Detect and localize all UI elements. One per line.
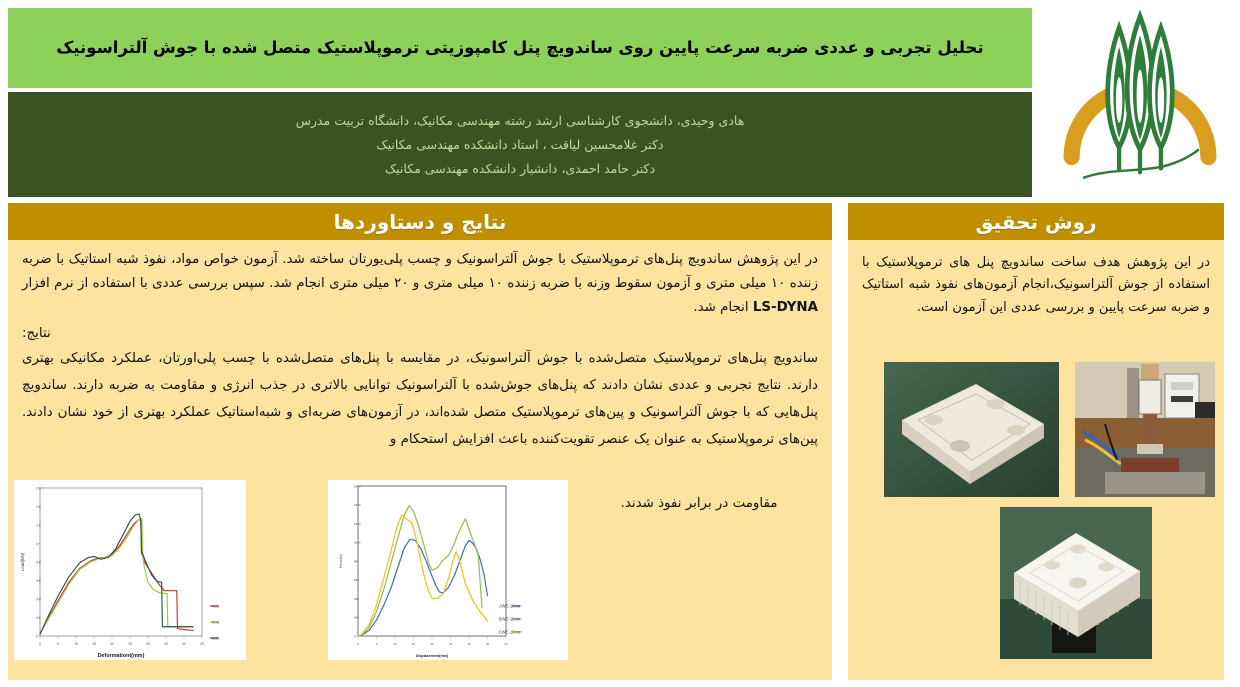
photo-sandwich-panel-angled[interactable] bbox=[884, 362, 1059, 497]
charts-area: مقاومت در برابر نفوذ شدند. 0510152025303… bbox=[8, 478, 832, 664]
results-label: نتایج: bbox=[22, 326, 818, 341]
svg-text:0.2: 0.2 bbox=[36, 616, 41, 620]
svg-text:1: 1 bbox=[36, 542, 38, 546]
svg-text:400: 400 bbox=[354, 597, 359, 601]
author-band: هادی وحیدی، دانشجوی کارشناسی ارشد رشته م… bbox=[8, 92, 1032, 197]
results-intro-paragraph: در این پژوهش ساندویچ پنل‌های ترموپلاستیک… bbox=[22, 248, 818, 320]
svg-text:40: 40 bbox=[182, 642, 186, 646]
author-line-3: دکتر حامد احمدی، دانشیار دانشکده مهندسی … bbox=[385, 161, 655, 176]
svg-text:1.4: 1.4 bbox=[36, 505, 41, 509]
svg-text:15: 15 bbox=[92, 642, 96, 646]
method-body-paragraph: در این پژوهش هدف ساخت ساندویچ پنل های تر… bbox=[862, 252, 1210, 319]
section-header-results-label: نتایج و دستاوردها bbox=[334, 210, 507, 234]
svg-text:800: 800 bbox=[354, 559, 359, 563]
svg-text:35: 35 bbox=[486, 642, 490, 646]
svg-text:45: 45 bbox=[200, 642, 204, 646]
svg-text:1600: 1600 bbox=[354, 484, 361, 488]
svg-text:1.2: 1.2 bbox=[36, 523, 41, 527]
svg-text:10: 10 bbox=[74, 642, 78, 646]
author-line-2: دکتر غلامحسین لیاقت ، استاد دانشکده مهند… bbox=[376, 137, 663, 152]
svg-text:30: 30 bbox=[467, 642, 471, 646]
svg-text:0.6: 0.6 bbox=[36, 579, 41, 583]
svg-text:1400: 1400 bbox=[354, 503, 361, 507]
svg-text:30: 30 bbox=[146, 642, 150, 646]
poster-title-band: تحلیل تجربی و عددی ضربه سرعت پایین روی س… bbox=[8, 8, 1032, 88]
svg-text:5: 5 bbox=[57, 642, 59, 646]
svg-text:0: 0 bbox=[39, 642, 41, 646]
svg-text:10: 10 bbox=[393, 642, 397, 646]
svg-text:600: 600 bbox=[354, 578, 359, 582]
university-logo bbox=[1040, 0, 1240, 200]
svg-text:20: 20 bbox=[110, 642, 114, 646]
svg-text:Displacement(mm): Displacement(mm) bbox=[416, 654, 449, 658]
svg-text:200: 200 bbox=[354, 616, 359, 620]
results-intro-text: در این پژوهش ساندویچ پنل‌های ترموپلاستیک… bbox=[22, 252, 818, 291]
chart-force-displacement-svg: 0510152025303540020040060080010001200140… bbox=[328, 480, 568, 660]
chart-force-displacement[interactable]: 0510152025303540020040060080010001200140… bbox=[328, 480, 568, 660]
svg-text:1000: 1000 bbox=[354, 541, 361, 545]
svg-text:CWE-10mm: CWE-10mm bbox=[499, 630, 522, 635]
page-title: تحلیل تجربی و عددی ضربه سرعت پایین روی س… bbox=[56, 36, 983, 61]
section-header-results: نتایج و دستاوردها bbox=[8, 203, 832, 240]
svg-text:15: 15 bbox=[412, 642, 416, 646]
svg-text:Deformationt(mm): Deformationt(mm) bbox=[98, 653, 145, 659]
svg-text:CGB: CGB bbox=[212, 621, 220, 625]
author-line-1: هادی وحیدی، دانشجوی کارشناسی ارشد رشته م… bbox=[296, 113, 745, 128]
svg-text:25: 25 bbox=[128, 642, 132, 646]
svg-text:BWE-10mm: BWE-10mm bbox=[499, 617, 522, 622]
results-tail-text: مقاومت در برابر نفوذ شدند. bbox=[574, 496, 824, 511]
svg-text:Force(N): Force(N) bbox=[339, 554, 343, 567]
chart-load-deformation-svg: 05101520253035404500.20.40.60.811.21.41.… bbox=[14, 480, 246, 660]
svg-text:AGB: AGB bbox=[212, 605, 220, 609]
svg-text:Load(kN): Load(kN) bbox=[20, 552, 25, 571]
section-header-method-label: روش تحقیق bbox=[976, 210, 1097, 234]
photo-sandwich-panel-pins[interactable] bbox=[1000, 507, 1152, 659]
svg-text:0.8: 0.8 bbox=[36, 560, 41, 564]
svg-text:1200: 1200 bbox=[354, 522, 361, 526]
svg-text:20: 20 bbox=[430, 642, 434, 646]
results-intro-tail: انجام شد. bbox=[693, 300, 752, 315]
svg-text:AWE-10mm: AWE-10mm bbox=[499, 604, 522, 609]
poster-root: تحلیل تجربی و عددی ضربه سرعت پایین روی س… bbox=[0, 0, 1240, 687]
svg-text:1.6: 1.6 bbox=[36, 486, 41, 490]
svg-text:25: 25 bbox=[449, 642, 453, 646]
svg-text:BGB: BGB bbox=[212, 637, 220, 641]
section-header-method: روش تحقیق bbox=[848, 203, 1224, 240]
svg-text:40: 40 bbox=[504, 642, 508, 646]
results-software-name: LS-DYNA bbox=[753, 296, 818, 320]
svg-text:0.4: 0.4 bbox=[36, 597, 41, 601]
svg-text:0: 0 bbox=[36, 634, 38, 638]
svg-text:35: 35 bbox=[164, 642, 168, 646]
results-body-paragraph: ساندویچ پنل‌های ترموپلاستیک متصل‌شده با … bbox=[22, 345, 818, 453]
photo-drop-weight-test-rig[interactable] bbox=[1075, 362, 1215, 497]
chart-load-deformation[interactable]: 05101520253035404500.20.40.60.811.21.41.… bbox=[14, 480, 246, 660]
